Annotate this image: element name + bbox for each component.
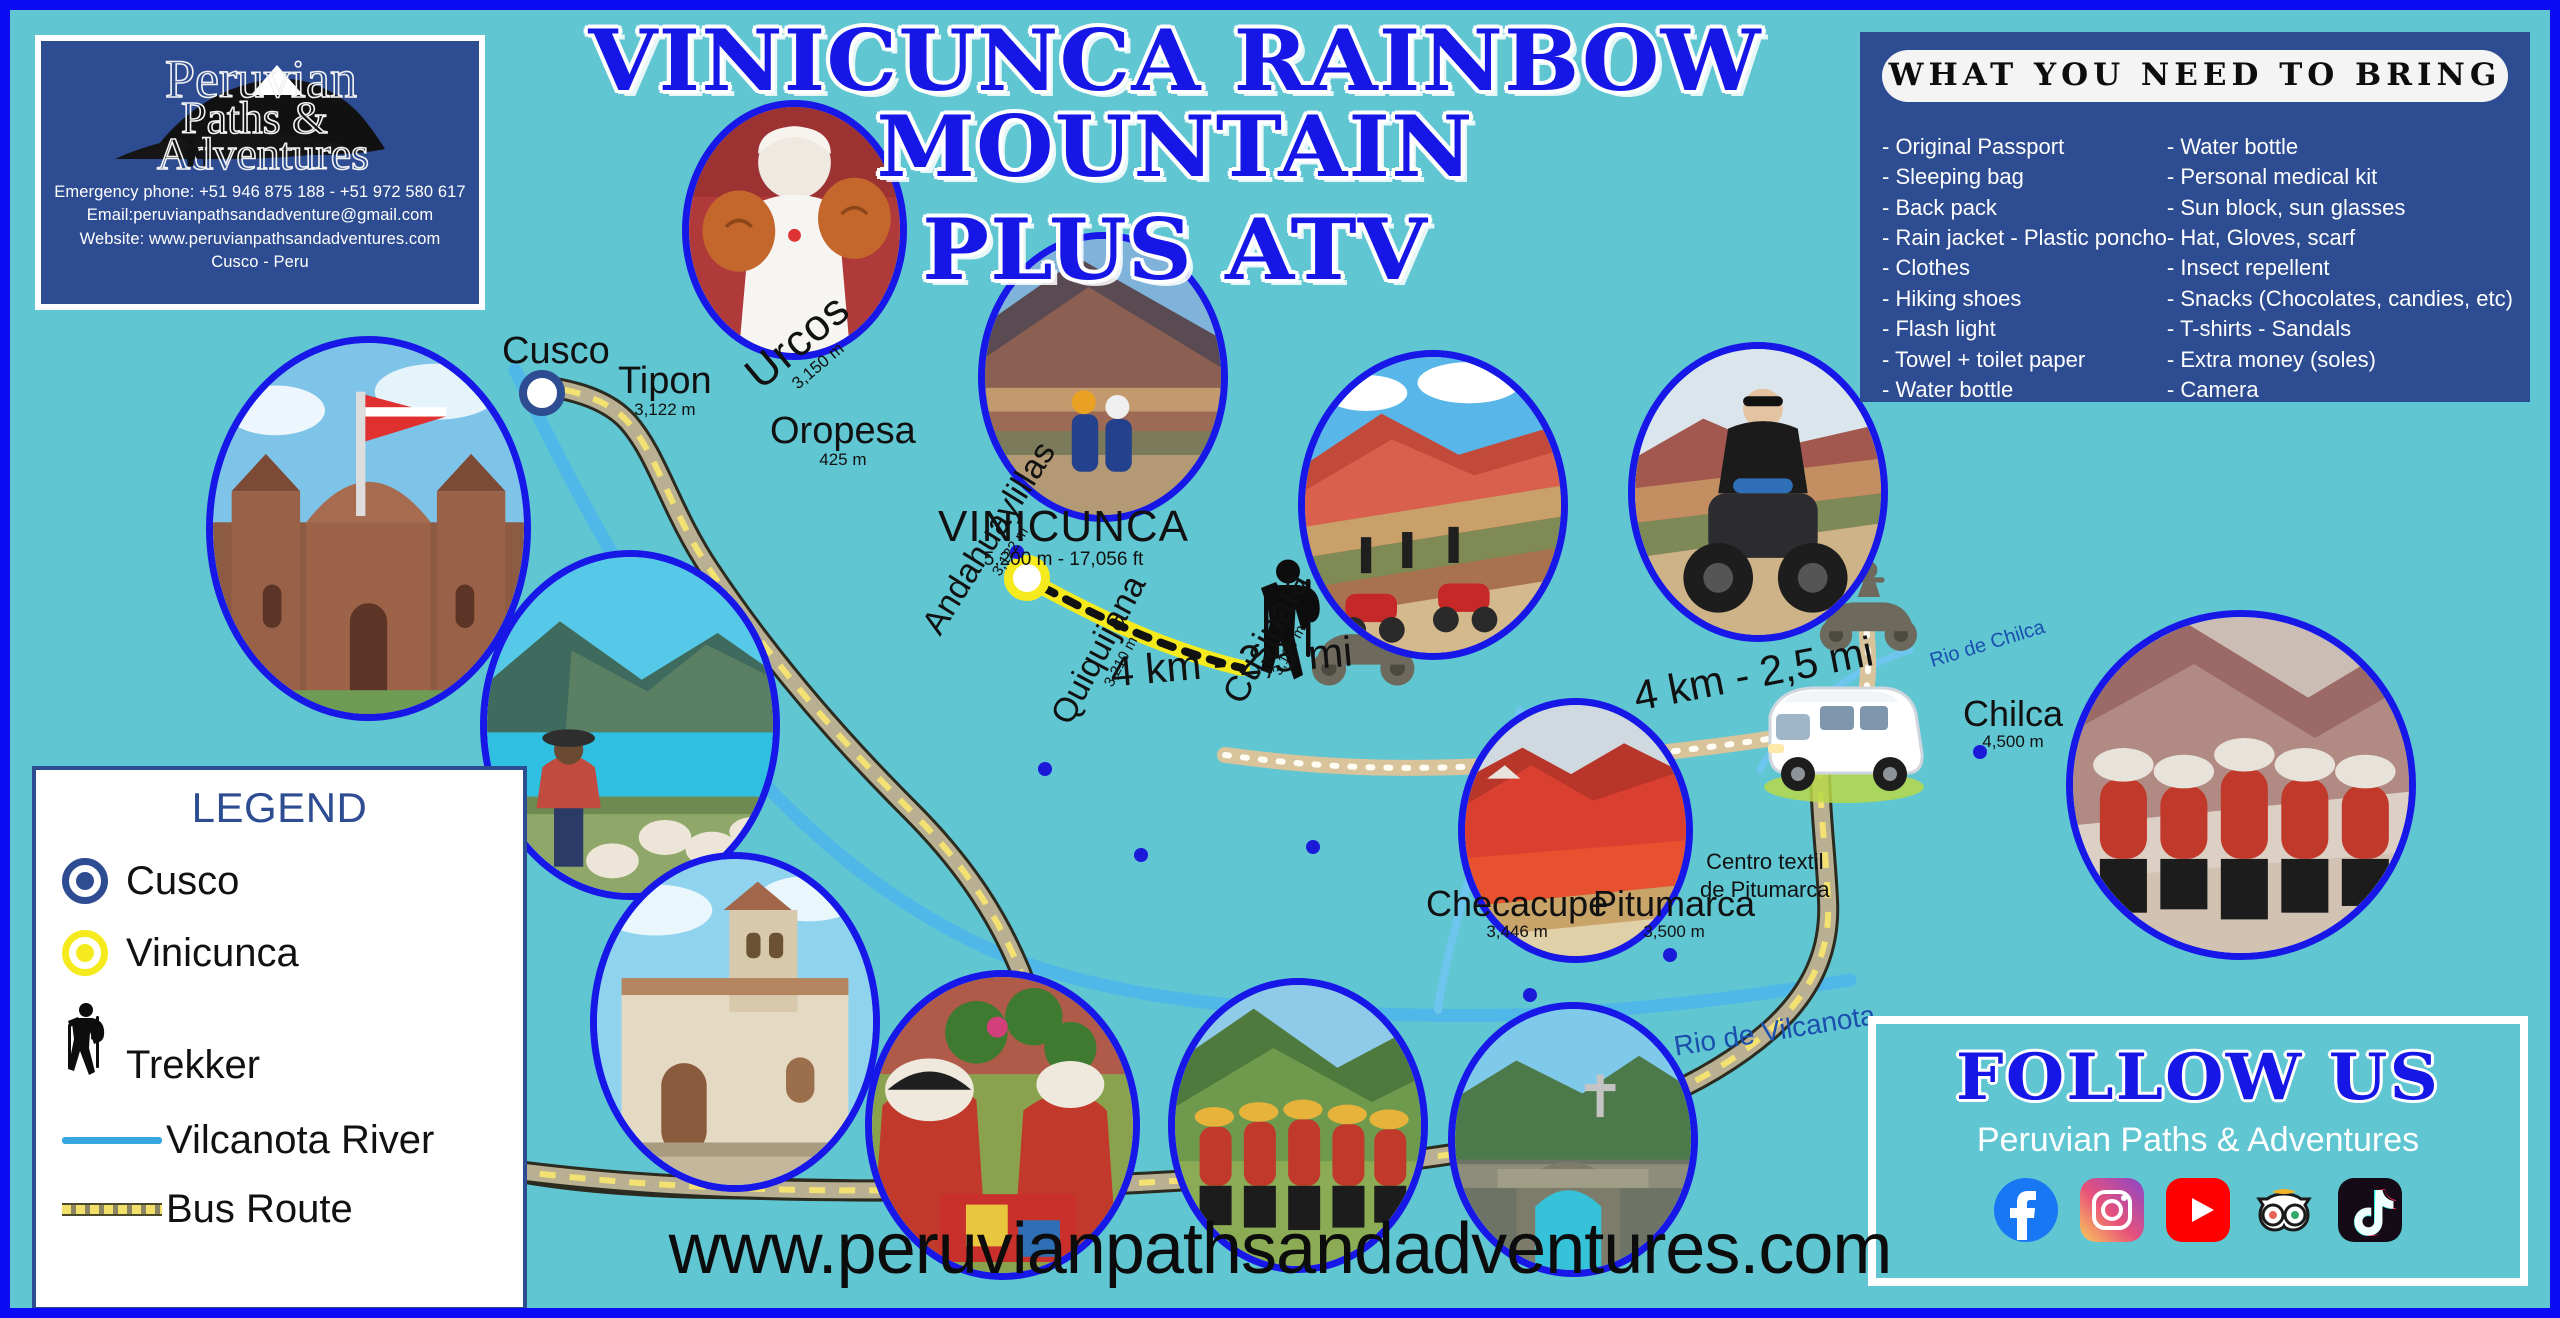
andahuaylillas-church-photo — [590, 852, 880, 1192]
map-dot-checacupe — [1523, 988, 1537, 1002]
bring-item: - Hat, Gloves, scarf — [2167, 223, 2513, 253]
legend-item-vinicunca: Vinicunca — [62, 930, 497, 976]
bring-item: - Sleeping bag — [1882, 162, 2167, 192]
contact-phone: Emergency phone: +51 946 875 188 - +51 9… — [41, 181, 479, 204]
map-label-tipon-name: Tipon — [618, 362, 712, 400]
cusco-ring-icon — [62, 858, 108, 904]
poster-frame: Cusco Tipon 3,122 m Oropesa 425 m Urcos … — [0, 0, 2560, 1318]
legend-item-cusco-label: Cusco — [126, 859, 239, 904]
bring-item: - Water bottle — [1882, 375, 2167, 405]
bring-item: - Hiking shoes — [1882, 284, 2167, 314]
poi-label-line1: Centro textil — [1706, 849, 1823, 874]
map-marker-cusco[interactable] — [519, 370, 565, 416]
map-dot-quiquijana — [1134, 848, 1148, 862]
legend-item-cusco: Cusco — [62, 858, 497, 904]
bring-item: - Insect repellent — [2167, 253, 2513, 283]
footer-website-url: www.peruvianpathsandadventures.com — [10, 1208, 2550, 1290]
poi-label-line2: de Pitumarca — [1700, 877, 1830, 902]
map-label-chilca: Chilca 4,500 m — [1963, 696, 2063, 752]
map-label-tipon: Tipon 3,122 m — [618, 362, 712, 420]
bring-item: - Clothes — [1882, 253, 2167, 283]
map-dot-pitumarca — [1663, 948, 1677, 962]
what-to-bring-column-b: - Water bottle - Personal medical kit - … — [2167, 132, 2513, 405]
legend-title: LEGEND — [62, 784, 497, 832]
map-label-checacupe-elev: 3,446 m — [1426, 922, 1608, 942]
river-label-vilcanota: Rio de Vilcanota — [1672, 999, 1878, 1062]
title-line-1: VINICUNCA RAINBOW MOUNTAIN — [449, 18, 1901, 189]
follow-us-title: FOLLOW US — [1860, 1040, 2536, 1115]
bring-item: - Snacks (Chocolates, candies, etc) — [2167, 284, 2513, 314]
legend-item-vinicunca-label: Vinicunca — [126, 931, 299, 976]
map-label-tipon-elev: 3,122 m — [618, 400, 712, 420]
bring-item: - Water bottle — [2167, 132, 2513, 162]
river-line-icon — [62, 1137, 162, 1144]
map-label-pitumarca-elev: 3,500 m — [1593, 922, 1755, 942]
bring-item: - Original Passport — [1882, 132, 2167, 162]
bring-item: - Rain jacket - Plastic poncho — [1882, 223, 2167, 253]
map-dot-andahuaylillas — [1038, 762, 1052, 776]
legend-item-river: Vilcanota River — [62, 1118, 497, 1163]
poi-label-centro-textil: Centro textil de Pitumarca — [1700, 848, 1830, 903]
palccoyo-locals-photo — [2066, 610, 2416, 960]
bring-item: - Back pack — [1882, 193, 2167, 223]
river-label-chilca: Rio de Chilca — [1927, 616, 2047, 673]
bring-item: - T-shirts - Sandals — [2167, 314, 2513, 344]
bring-item: - Towel + toilet paper — [1882, 345, 2167, 375]
map-label-oropesa-elev: 425 m — [770, 450, 916, 470]
map-label-cusco-name: Cusco — [502, 332, 610, 370]
what-to-bring-panel: WHAT YOU NEED TO BRING - Original Passpo… — [1860, 32, 2530, 402]
legend-item-trekker: Trekker — [62, 1002, 497, 1088]
atv-rider-photo — [1628, 342, 1888, 642]
contact-email: Email:peruvianpathsandadventure@gmail.co… — [41, 204, 479, 227]
bring-item: - Extra money (soles) — [2167, 345, 2513, 375]
bring-item: - Personal medical kit — [2167, 162, 2513, 192]
what-to-bring-column-a: - Original Passport - Sleeping bag - Bac… — [1882, 132, 2167, 405]
trekker-icon — [62, 1002, 116, 1088]
map-label-oropesa: Oropesa 425 m — [770, 412, 916, 470]
vinicunca-ring-icon — [62, 930, 108, 976]
what-to-bring-title: WHAT YOU NEED TO BRING — [1882, 50, 2508, 102]
map-label-cusco: Cusco — [502, 332, 610, 370]
bring-item: - Camera — [2167, 375, 2513, 405]
map-label-checacupe: Checacupe 3,446 m — [1426, 886, 1608, 942]
bring-item: - Flash light — [1882, 314, 2167, 344]
contact-location: Cusco - Peru — [41, 251, 479, 274]
legend-item-trekker-label: Trekker — [126, 1043, 260, 1088]
company-logo: Peruvian Paths & Adventures — [41, 41, 479, 181]
contact-card: Peruvian Paths & Adventures Emergency ph… — [35, 35, 485, 310]
poster-canvas: Cusco Tipon 3,122 m Oropesa 425 m Urcos … — [10, 10, 2550, 1308]
follow-us-subtitle: Peruvian Paths & Adventures — [1876, 1121, 2520, 1160]
rainbow-mountain-atv-group-photo — [1298, 350, 1568, 660]
contact-website: Website: www.peruvianpathsandadventures.… — [41, 228, 479, 251]
legend-item-river-label: Vilcanota River — [166, 1118, 434, 1163]
map-label-checacupe-name: Checacupe — [1426, 886, 1608, 922]
cusco-cathedral-photo — [206, 336, 531, 721]
map-label-chilca-name: Chilca — [1963, 696, 2063, 732]
map-label-oropesa-name: Oropesa — [770, 412, 916, 450]
map-dot-cusipata — [1306, 840, 1320, 854]
bring-item: - Sun block, sun glasses — [2167, 193, 2513, 223]
map-dot-chilca — [1973, 745, 1987, 759]
